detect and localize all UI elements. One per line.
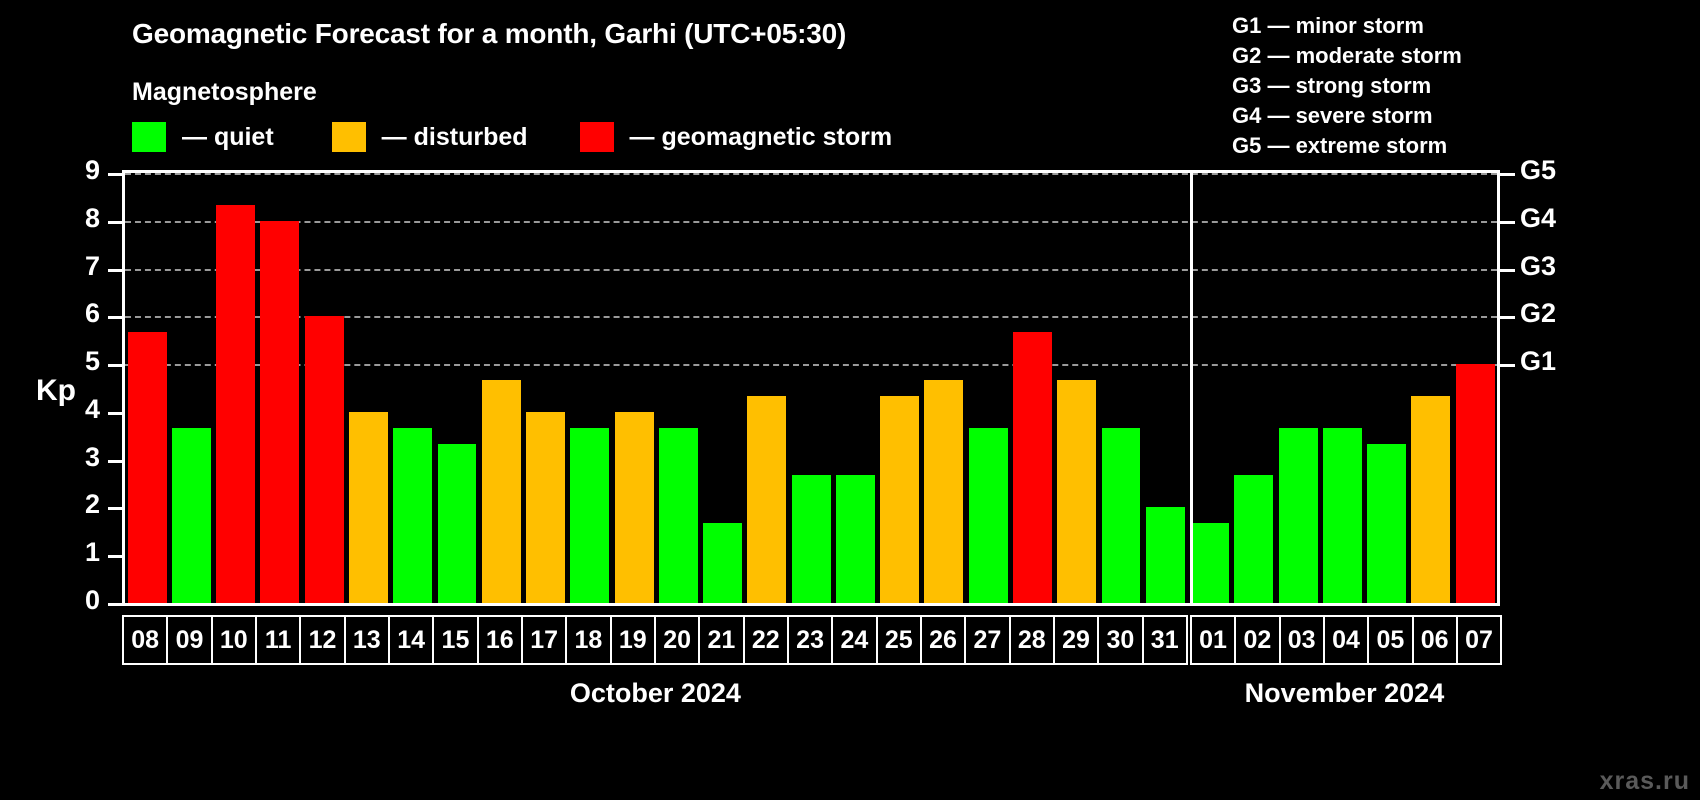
magnetosphere-legend: — quiet — disturbed — geomagnetic storm — [132, 122, 892, 152]
g-tick-g4 — [1500, 221, 1515, 224]
day-label-24: 24 — [831, 615, 877, 665]
bar-27[interactable] — [969, 428, 1008, 603]
bar-12[interactable] — [305, 316, 344, 603]
g-scale-item-g5: G5 — extreme storm — [1232, 131, 1462, 161]
g-scale-item-g4: G4 — severe storm — [1232, 101, 1462, 131]
bar-30[interactable] — [1102, 428, 1141, 603]
day-label-18: 18 — [565, 615, 611, 665]
bar-cell-28[interactable] — [1010, 173, 1054, 603]
bar-cell-24[interactable] — [833, 173, 877, 603]
day-label-20: 20 — [654, 615, 700, 665]
legend-label-disturbed: — disturbed — [382, 123, 528, 152]
bar-cell-19[interactable] — [612, 173, 656, 603]
bar-08[interactable] — [128, 332, 167, 603]
legend-label-quiet: — quiet — [182, 123, 274, 152]
bar-29[interactable] — [1057, 380, 1096, 603]
y-tick-label-2: 2 — [60, 489, 100, 520]
g-tick-g1 — [1500, 364, 1515, 367]
day-label-26: 26 — [920, 615, 966, 665]
bar-01[interactable] — [1190, 523, 1229, 603]
g-tick-label-g5: G5 — [1520, 155, 1556, 186]
geomagnetic-forecast-chart: Geomagnetic Forecast for a month, Garhi … — [0, 0, 1700, 800]
bar-cell-03[interactable] — [1276, 173, 1320, 603]
g-tick-label-g1: G1 — [1520, 346, 1556, 377]
y-tick-5 — [108, 364, 122, 367]
g-tick-label-g3: G3 — [1520, 251, 1556, 282]
bar-16[interactable] — [482, 380, 521, 603]
day-label-06: 06 — [1412, 615, 1458, 665]
legend-item-quiet: — quiet — [132, 122, 274, 152]
g-tick-g2 — [1500, 316, 1515, 319]
y-tick-3 — [108, 460, 122, 463]
y-tick-1 — [108, 555, 122, 558]
day-label-14: 14 — [388, 615, 434, 665]
day-label-17: 17 — [521, 615, 567, 665]
bar-06[interactable] — [1411, 396, 1450, 603]
day-label-19: 19 — [610, 615, 656, 665]
legend-swatch-quiet — [132, 122, 166, 152]
bar-20[interactable] — [659, 428, 698, 603]
g-tick-g5 — [1500, 173, 1515, 176]
y-tick-7 — [108, 269, 122, 272]
bar-cell-05[interactable] — [1364, 173, 1408, 603]
y-tick-label-1: 1 — [60, 537, 100, 568]
x-axis-day-labels: 0809101112131415161718192021222324252627… — [122, 615, 1500, 665]
bar-cell-23[interactable] — [789, 173, 833, 603]
g-tick-label-g4: G4 — [1520, 203, 1556, 234]
day-label-30: 30 — [1097, 615, 1143, 665]
y-tick-label-7: 7 — [60, 251, 100, 282]
day-label-04: 04 — [1323, 615, 1369, 665]
bar-cell-18[interactable] — [568, 173, 612, 603]
bar-26[interactable] — [924, 380, 963, 603]
bar-21[interactable] — [703, 523, 742, 603]
day-label-01: 01 — [1190, 615, 1236, 665]
g-tick-g3 — [1500, 269, 1515, 272]
day-label-02: 02 — [1234, 615, 1280, 665]
bar-cell-11[interactable] — [258, 173, 302, 603]
day-label-12: 12 — [299, 615, 345, 665]
day-label-03: 03 — [1279, 615, 1325, 665]
legend-swatch-disturbed — [332, 122, 366, 152]
day-label-27: 27 — [964, 615, 1010, 665]
bar-cell-14[interactable] — [391, 173, 435, 603]
y-tick-label-4: 4 — [60, 394, 100, 425]
bar-cell-15[interactable] — [435, 173, 479, 603]
bar-22[interactable] — [747, 396, 786, 603]
month-divider — [1190, 173, 1193, 603]
bar-19[interactable] — [615, 412, 654, 603]
bar-07[interactable] — [1456, 364, 1495, 603]
day-label-22: 22 — [743, 615, 789, 665]
bar-18[interactable] — [570, 428, 609, 603]
bar-cell-29[interactable] — [1055, 173, 1099, 603]
watermark: xras.ru — [1600, 767, 1690, 796]
month-label: October 2024 — [570, 678, 741, 709]
y-tick-9 — [108, 173, 122, 176]
bar-cell-12[interactable] — [302, 173, 346, 603]
x-axis-month-labels: October 2024November 2024 — [122, 678, 1500, 718]
bar-13[interactable] — [349, 412, 388, 603]
y-tick-0 — [108, 603, 122, 606]
bar-cell-01[interactable] — [1187, 173, 1231, 603]
bar-cell-10[interactable] — [214, 173, 258, 603]
bar-23[interactable] — [792, 475, 831, 603]
bar-28[interactable] — [1013, 332, 1052, 603]
day-label-13: 13 — [344, 615, 390, 665]
y-tick-6 — [108, 316, 122, 319]
g-scale-legend: G1 — minor storm G2 — moderate storm G3 … — [1232, 11, 1462, 161]
plot-area — [122, 170, 1500, 606]
bar-03[interactable] — [1279, 428, 1318, 603]
g-scale-item-g2: G2 — moderate storm — [1232, 41, 1462, 71]
bar-cell-21[interactable] — [700, 173, 744, 603]
bar-series — [125, 173, 1497, 603]
y-tick-label-0: 0 — [60, 585, 100, 616]
day-label-25: 25 — [876, 615, 922, 665]
day-label-23: 23 — [787, 615, 833, 665]
bar-10[interactable] — [216, 205, 255, 603]
g-tick-label-g2: G2 — [1520, 298, 1556, 329]
bar-cell-08[interactable] — [125, 173, 169, 603]
bar-24[interactable] — [836, 475, 875, 603]
page-title: Geomagnetic Forecast for a month, Garhi … — [132, 18, 846, 50]
bar-cell-25[interactable] — [878, 173, 922, 603]
day-label-16: 16 — [477, 615, 523, 665]
day-label-09: 09 — [166, 615, 212, 665]
bar-09[interactable] — [172, 428, 211, 603]
day-label-21: 21 — [698, 615, 744, 665]
bar-cell-06[interactable] — [1409, 173, 1453, 603]
day-label-31: 31 — [1142, 615, 1188, 665]
bar-14[interactable] — [393, 428, 432, 603]
y-tick-4 — [108, 412, 122, 415]
legend-swatch-storm — [580, 122, 614, 152]
bar-31[interactable] — [1146, 507, 1185, 603]
bar-cell-09[interactable] — [169, 173, 213, 603]
bar-cell-30[interactable] — [1099, 173, 1143, 603]
day-label-08: 08 — [122, 615, 168, 665]
day-label-10: 10 — [211, 615, 257, 665]
bar-11[interactable] — [260, 221, 299, 603]
bar-cell-17[interactable] — [523, 173, 567, 603]
bar-cell-27[interactable] — [966, 173, 1010, 603]
y-tick-label-9: 9 — [60, 155, 100, 186]
legend-item-storm: — geomagnetic storm — [580, 122, 893, 152]
y-tick-2 — [108, 507, 122, 510]
day-label-11: 11 — [255, 615, 301, 665]
bar-cell-26[interactable] — [922, 173, 966, 603]
day-label-29: 29 — [1053, 615, 1099, 665]
bar-05[interactable] — [1367, 444, 1406, 603]
legend-label-storm: — geomagnetic storm — [630, 123, 893, 152]
bar-cell-04[interactable] — [1320, 173, 1364, 603]
bar-17[interactable] — [526, 412, 565, 603]
g-scale-item-g1: G1 — minor storm — [1232, 11, 1462, 41]
day-label-28: 28 — [1009, 615, 1055, 665]
y-tick-label-6: 6 — [60, 298, 100, 329]
bar-15[interactable] — [438, 444, 477, 603]
day-label-05: 05 — [1367, 615, 1413, 665]
bar-cell-13[interactable] — [346, 173, 390, 603]
month-label: November 2024 — [1245, 678, 1445, 709]
legend-heading: Magnetosphere — [132, 78, 317, 107]
bar-02[interactable] — [1234, 475, 1273, 603]
bar-cell-31[interactable] — [1143, 173, 1187, 603]
day-label-07: 07 — [1456, 615, 1502, 665]
y-tick-label-3: 3 — [60, 442, 100, 473]
y-tick-label-8: 8 — [60, 203, 100, 234]
g-scale-item-g3: G3 — strong storm — [1232, 71, 1462, 101]
bar-cell-20[interactable] — [656, 173, 700, 603]
bar-04[interactable] — [1323, 428, 1362, 603]
bar-cell-07[interactable] — [1453, 173, 1497, 603]
bar-cell-22[interactable] — [745, 173, 789, 603]
legend-item-disturbed: — disturbed — [332, 122, 528, 152]
y-tick-label-5: 5 — [60, 346, 100, 377]
y-tick-8 — [108, 221, 122, 224]
bar-cell-16[interactable] — [479, 173, 523, 603]
day-label-15: 15 — [432, 615, 478, 665]
bar-25[interactable] — [880, 396, 919, 603]
bar-cell-02[interactable] — [1232, 173, 1276, 603]
